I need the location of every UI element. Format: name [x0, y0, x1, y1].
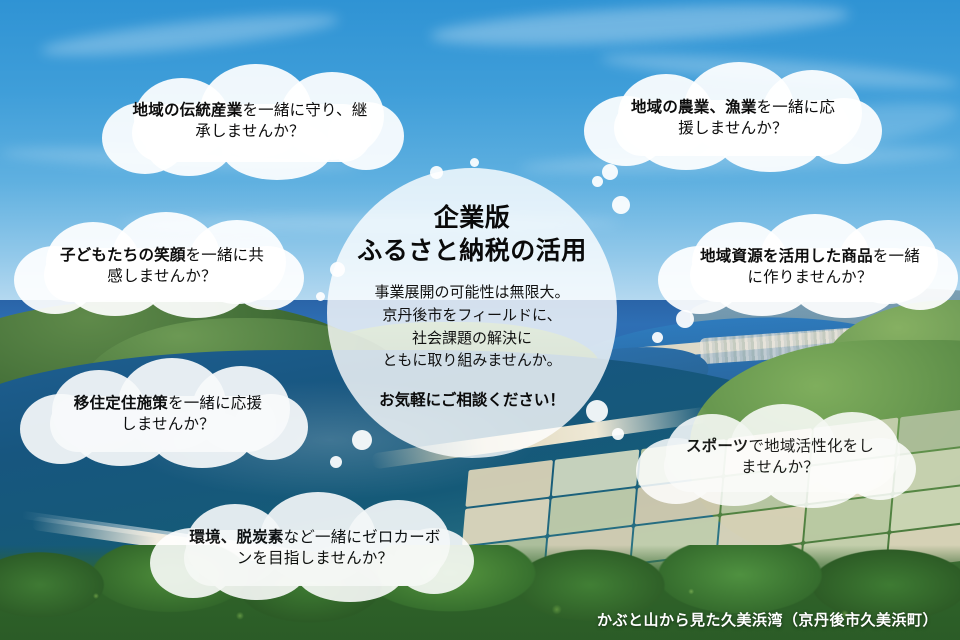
main-body: 事業展開の可能性は無限大。 京丹後市をフィールドに、 社会課題の解決に ともに取… — [374, 282, 569, 373]
cloud-bubble-zero-carbon[interactable]: 環境、脱炭素など一緒にゼロカーボンを目指しませんか？ — [150, 492, 480, 604]
main-body-line3: 社会課題の解決に — [412, 330, 532, 347]
poster-canvas: 企業版 ふるさと納税の活用 事業展開の可能性は無限大。 京丹後市をフィールドに、… — [0, 0, 960, 640]
cloud-text-bold: 地域資源を活用した商品 — [700, 248, 873, 265]
cloud-text: 環境、脱炭素など一緒にゼロカーボンを目指しませんか？ — [183, 527, 447, 570]
cloud-text: 地域の伝統産業を一緒に守り、継承しませんか？ — [119, 100, 381, 143]
decor-bubble — [470, 158, 479, 167]
cloud-text-rest: で地域活性化をしませんか？ — [741, 438, 874, 476]
main-body-line2: 京丹後市をフィールドに、 — [382, 307, 561, 324]
decor-bubble — [612, 196, 630, 214]
cloud-bubble-children-smiles[interactable]: 子どもたちの笑顔を一緒に共感しませんか？ — [12, 212, 312, 320]
main-message-circle: 企業版 ふるさと納税の活用 事業展開の可能性は無限大。 京丹後市をフィールドに、… — [327, 168, 617, 458]
cloud-tail-dot — [602, 164, 618, 180]
cloud-text-bold: 地域の伝統産業 — [133, 102, 243, 119]
decor-bubble — [612, 428, 624, 440]
decor-bubble — [586, 400, 608, 422]
decor-bubble — [330, 456, 342, 468]
main-title-line2: ふるさと納税の活用 — [357, 237, 587, 265]
main-title-line1: 企業版 — [434, 204, 511, 232]
cloud-bubble-sports-revitalization[interactable]: スポーツで地域活性化をしませんか？ — [636, 404, 924, 510]
cloud-text: 地域資源を活用した商品を一緒に作りませんか？ — [688, 246, 932, 289]
decor-bubble — [592, 176, 603, 187]
main-body-line4: ともに取り組みませんか。 — [382, 352, 561, 369]
cloud-bubble-agriculture-fishery[interactable]: 地域の農業、漁業を一緒に応援しませんか？ — [578, 62, 888, 174]
cloud-text-bold: 環境、脱炭素 — [189, 529, 283, 546]
cloud-text: 地域の農業、漁業を一緒に応援しませんか？ — [620, 97, 846, 140]
cloud-bubble-local-resources-products[interactable]: 地域資源を活用した商品を一緒に作りませんか？ — [656, 214, 960, 320]
main-title: 企業版 ふるさと納税の活用 — [357, 202, 587, 268]
cloud-tail-dot — [652, 332, 663, 343]
cloud-text-bold: 移住定住施策 — [74, 395, 168, 412]
cloud-text-bold: スポーツ — [686, 438, 749, 455]
cloud-text-bold: 子どもたちの笑顔 — [60, 247, 186, 264]
cloud-text: 移住定住施策を一緒に応援しませんか？ — [63, 393, 273, 436]
decor-bubble — [352, 430, 372, 450]
cloud-text-bold: 地域の農業、漁業 — [631, 99, 757, 116]
cloud-tail-dot — [676, 310, 694, 328]
cloud-text: スポーツで地域活性化をしませんか？ — [674, 436, 886, 479]
photo-caption: かぶと山から見た久美浜湾（京丹後市久美浜町） — [597, 609, 938, 630]
cloud-bubble-migration-settlement[interactable]: 移住定住施策を一緒に応援しませんか？ — [20, 358, 316, 470]
decor-bubble — [316, 292, 325, 301]
contact-cta: お気軽にご相談ください！ — [379, 388, 565, 410]
main-body-line1: 事業展開の可能性は無限大。 — [374, 284, 569, 301]
cloud-bubble-traditional-industry[interactable]: 地域の伝統産業を一緒に守り、継承しませんか？ — [92, 62, 408, 180]
cloud-text: 子どもたちの笑顔を一緒に共感しませんか？ — [52, 245, 272, 288]
